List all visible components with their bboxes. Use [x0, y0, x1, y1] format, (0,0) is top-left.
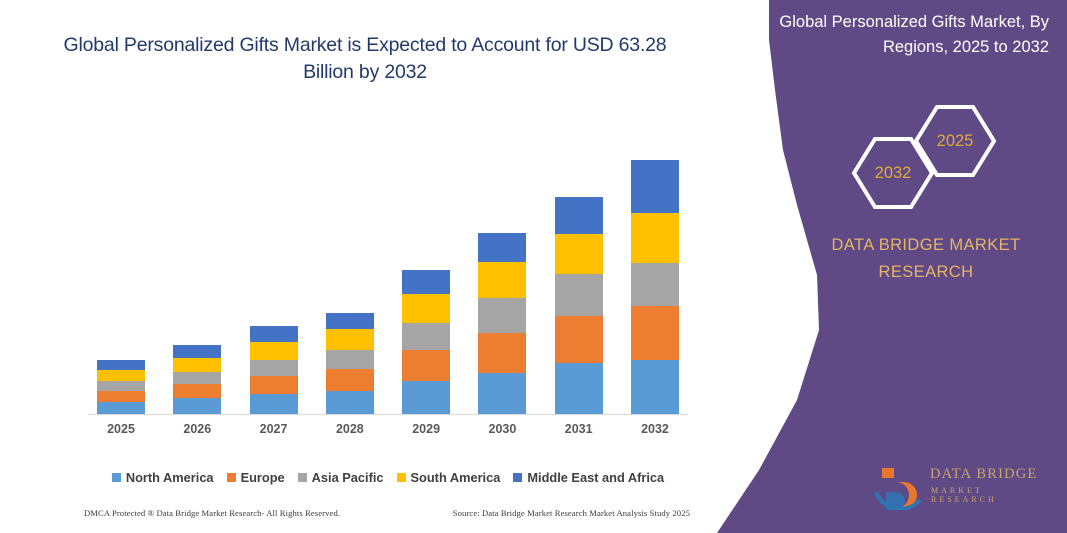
bar-group — [173, 345, 221, 414]
bar-group — [97, 360, 145, 414]
bar-segment — [478, 298, 526, 333]
bar-segment — [250, 326, 298, 343]
bar-segment — [402, 270, 450, 295]
x-axis-tick-2027: 2027 — [250, 422, 298, 442]
legend-label: Europe — [241, 470, 285, 485]
x-axis-tick-2030: 2030 — [478, 422, 526, 442]
bar-segment — [402, 294, 450, 323]
legend-swatch-icon — [397, 473, 406, 482]
bar-segment — [326, 391, 374, 414]
legend-swatch-icon — [513, 473, 522, 482]
bar-group — [631, 160, 679, 414]
hexagon-label-2025: 2025 — [937, 132, 974, 151]
bar-segment — [97, 370, 145, 381]
bar-segment — [173, 372, 221, 384]
x-axis-tick-2029: 2029 — [402, 422, 450, 442]
bar-segment — [402, 350, 450, 381]
hexagon-badge-end-year: 2032 — [850, 135, 936, 211]
bar-series-container — [88, 114, 688, 414]
bar-segment — [97, 360, 145, 370]
bar-group — [250, 326, 298, 414]
legend-label: South America — [411, 470, 501, 485]
bar-segment — [326, 329, 374, 349]
legend-swatch-icon — [112, 473, 121, 482]
bar-segment — [173, 358, 221, 372]
footer-source: Source: Data Bridge Market Research Mark… — [453, 508, 690, 518]
x-axis-tick-2026: 2026 — [173, 422, 221, 442]
bar-segment — [631, 160, 679, 212]
chart-plot-area — [88, 110, 688, 415]
bar-segment — [631, 306, 679, 359]
footer: DMCA Protected ® Data Bridge Market Rese… — [84, 508, 690, 518]
x-axis-labels: 20252026202720282029203020312032 — [88, 422, 688, 442]
chart-baseline — [88, 414, 688, 415]
legend-item[interactable]: Asia Pacific — [298, 470, 384, 485]
logo-subtitle: MARKET RESEARCH — [931, 486, 1052, 504]
infographic-canvas: Global Personalized Gifts Market is Expe… — [0, 0, 1067, 533]
bar-segment — [250, 360, 298, 377]
chart-legend: North AmericaEuropeAsia PacificSouth Ame… — [88, 470, 688, 485]
legend-swatch-icon — [298, 473, 307, 482]
bar-segment — [173, 345, 221, 358]
legend-item[interactable]: South America — [397, 470, 501, 485]
legend-item[interactable]: Europe — [227, 470, 285, 485]
bar-segment — [326, 313, 374, 330]
legend-swatch-icon — [227, 473, 236, 482]
bar-segment — [97, 381, 145, 391]
x-axis-tick-2028: 2028 — [326, 422, 374, 442]
bar-segment — [555, 274, 603, 315]
legend-item[interactable]: North America — [112, 470, 214, 485]
brand-logo: DATA BRIDGE MARKET RESEARCH — [872, 462, 1052, 512]
bar-segment — [326, 369, 374, 391]
bar-segment — [173, 384, 221, 399]
bar-group — [478, 233, 526, 414]
bar-segment — [478, 233, 526, 262]
panel-title: Global Personalized Gifts Market, By Reg… — [729, 10, 1049, 60]
bar-segment — [631, 360, 679, 414]
x-axis-tick-2031: 2031 — [555, 422, 603, 442]
legend-label: North America — [126, 470, 214, 485]
bar-segment — [631, 263, 679, 306]
data-bridge-logo-icon — [872, 462, 928, 510]
bar-segment — [402, 323, 450, 350]
bar-segment — [555, 363, 603, 414]
page-title: Global Personalized Gifts Market is Expe… — [60, 32, 670, 86]
bar-segment — [555, 197, 603, 234]
legend-item[interactable]: Middle East and Africa — [513, 470, 664, 485]
bar-segment — [402, 381, 450, 414]
footer-copyright: DMCA Protected ® Data Bridge Market Rese… — [84, 508, 340, 518]
bar-group — [555, 197, 603, 414]
bar-segment — [631, 213, 679, 264]
bar-segment — [250, 342, 298, 359]
hexagon-label-2032: 2032 — [875, 164, 912, 183]
bar-segment — [478, 333, 526, 373]
legend-label: Middle East and Africa — [527, 470, 664, 485]
bar-segment — [478, 262, 526, 298]
bar-group — [402, 270, 450, 414]
bar-segment — [173, 398, 221, 414]
logo-wordmark: DATA BRIDGE — [930, 466, 1038, 483]
bar-segment — [250, 394, 298, 414]
bar-segment — [97, 391, 145, 402]
bar-segment — [478, 373, 526, 414]
bar-segment — [555, 234, 603, 274]
bar-segment — [250, 376, 298, 393]
legend-label: Asia Pacific — [312, 470, 384, 485]
x-axis-tick-2032: 2032 — [631, 422, 679, 442]
bar-segment — [555, 316, 603, 364]
x-axis-tick-2025: 2025 — [97, 422, 145, 442]
brand-name: DATA BRIDGE MARKET RESEARCH — [800, 232, 1052, 286]
hexagon-badges: 2025 2032 — [820, 95, 1020, 205]
bar-segment — [97, 402, 145, 414]
bar-segment — [326, 350, 374, 369]
bar-group — [326, 313, 374, 414]
